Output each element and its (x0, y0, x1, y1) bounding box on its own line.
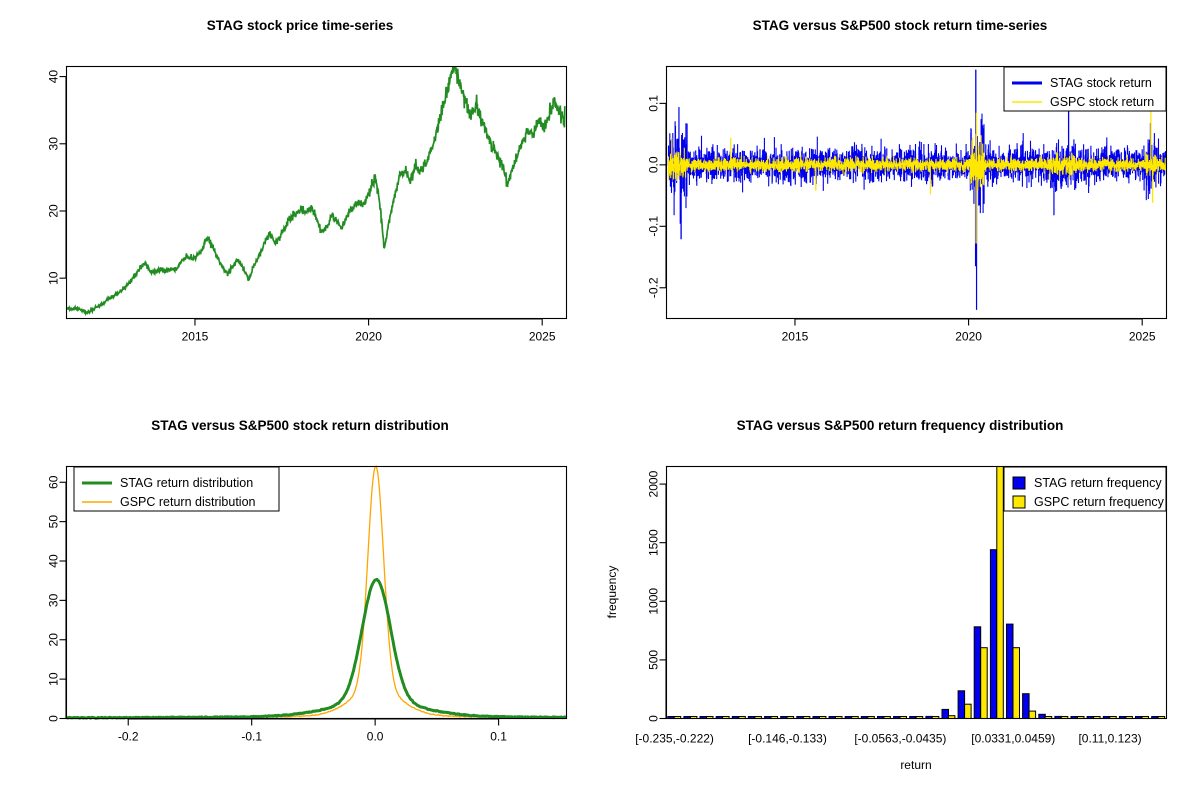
panel3-title: STAG versus S&P500 stock return distribu… (151, 418, 449, 433)
panel1-title: STAG stock price time-series (207, 18, 394, 33)
panel-return-timeseries: STAG versus S&P500 stock return time-ser… (600, 0, 1200, 400)
return-timeseries-chart: STAG versus S&P500 stock return time-ser… (600, 0, 1200, 400)
panel3-legend: STAG return distributionGSPC return dist… (74, 467, 279, 511)
panel4-y-ticklabel: 500 (647, 650, 661, 670)
panel4-x-ticklabel: [-0.235,-0.222) (635, 732, 714, 746)
panel4-legend: STAG return frequencyGSPC return frequen… (1004, 467, 1166, 511)
panel3-x-ticklabel: -0.2 (118, 730, 139, 744)
gspc-frequency-bar (1013, 648, 1020, 719)
panel1-y-ticklabel: 30 (47, 137, 61, 151)
panel4-x-ticklabel: [0.11,0.123) (1078, 732, 1141, 746)
panel1-x-ticklabel: 2025 (529, 330, 556, 344)
panel1-frame (67, 67, 567, 319)
panel4-y-ticklabel: 1000 (647, 588, 661, 615)
panel4-x-ticklabel: [-0.146,-0.133) (748, 732, 827, 746)
panel2-legend: STAG stock returnGSPC stock return (1004, 67, 1166, 111)
stag-frequency-bar (1023, 694, 1030, 719)
panel4-y-ticklabel: 1500 (647, 529, 661, 556)
panel1-y-ticklabel: 10 (47, 271, 61, 285)
panel1-y-ticklabel: 40 (47, 70, 61, 84)
panel2-x-ticklabel: 2015 (782, 330, 809, 344)
panel4-title: STAG versus S&P500 return frequency dist… (737, 418, 1064, 433)
panel1-x-ticklabel: 2015 (182, 330, 209, 344)
panel4-x-ticklabel: [-0.0563,-0.0435) (854, 732, 946, 746)
legend-swatch (1013, 496, 1025, 508)
gspc-frequency-bar (997, 402, 1004, 719)
panel4-ylabel: frequency (605, 566, 619, 619)
legend-label: STAG stock return (1050, 76, 1152, 90)
panel-return-frequency: STAG versus S&P500 return frequency dist… (600, 400, 1200, 800)
panel3-y-ticklabel: 40 (47, 554, 61, 568)
figure-canvas: STAG stock price time-series 20152020202… (0, 0, 1200, 800)
return-distribution-chart: STAG versus S&P500 stock return distribu… (0, 400, 600, 800)
stag-price-line (67, 65, 565, 314)
panel2-y-ticklabel: 0.0 (647, 156, 661, 173)
legend-label: STAG return frequency (1034, 476, 1162, 490)
stag-frequency-bar (1039, 714, 1046, 718)
panel2-y-ticklabel: -0.1 (647, 216, 661, 237)
panel3-x-ticklabel: -0.1 (241, 730, 262, 744)
panel3-x-ticklabel: 0.1 (490, 730, 507, 744)
panel3-y-ticklabel: 50 (47, 515, 61, 529)
stag-frequency-bar (1007, 624, 1014, 718)
panel4-y-ticklabel: 0 (647, 715, 661, 722)
gspc-frequency-bar (981, 648, 988, 719)
panel2-x-ticklabel: 2020 (955, 330, 982, 344)
panel3-y-ticklabel: 20 (47, 633, 61, 647)
panel4-xlabel: return (900, 758, 931, 772)
stag-price-chart: STAG stock price time-series 20152020202… (0, 0, 600, 400)
legend-label: GSPC return frequency (1034, 495, 1165, 509)
panel4-x-ticklabel: [0.0331,0.0459) (971, 732, 1055, 746)
panel3-x-ticklabel: 0.0 (367, 730, 384, 744)
stag-frequency-bar (942, 709, 949, 718)
panel3-y-ticklabel: 0 (47, 715, 61, 722)
panel3-y-ticklabel: 30 (47, 593, 61, 607)
stag-density-curve (67, 579, 567, 718)
legend-label: GSPC return distribution (120, 495, 256, 509)
panel3-y-ticklabel: 10 (47, 672, 61, 686)
panel2-x-ticklabel: 2025 (1129, 330, 1156, 344)
panel-stag-price-timeseries: STAG stock price time-series 20152020202… (0, 0, 600, 400)
panel2-y-ticklabel: 0.1 (647, 95, 661, 112)
panel2-y-ticklabel: -0.2 (647, 277, 661, 298)
stag-frequency-bar (958, 691, 965, 719)
legend-label: GSPC stock return (1050, 95, 1154, 109)
stag-frequency-bar (990, 550, 997, 719)
gspc-frequency-bar (1029, 711, 1036, 718)
panel2-title: STAG versus S&P500 stock return time-ser… (753, 18, 1048, 33)
return-frequency-chart: STAG versus S&P500 return frequency dist… (600, 400, 1200, 800)
legend-label: STAG return distribution (120, 476, 253, 490)
gspc-frequency-bar (965, 704, 972, 718)
panel-return-distribution: STAG versus S&P500 stock return distribu… (0, 400, 600, 800)
panel1-y-ticklabel: 20 (47, 204, 61, 218)
panel4-y-ticklabel: 2000 (647, 470, 661, 497)
panel3-y-ticklabel: 60 (47, 475, 61, 489)
panel1-x-ticklabel: 2020 (355, 330, 382, 344)
stag-frequency-bar (974, 627, 981, 719)
legend-swatch (1013, 477, 1025, 489)
